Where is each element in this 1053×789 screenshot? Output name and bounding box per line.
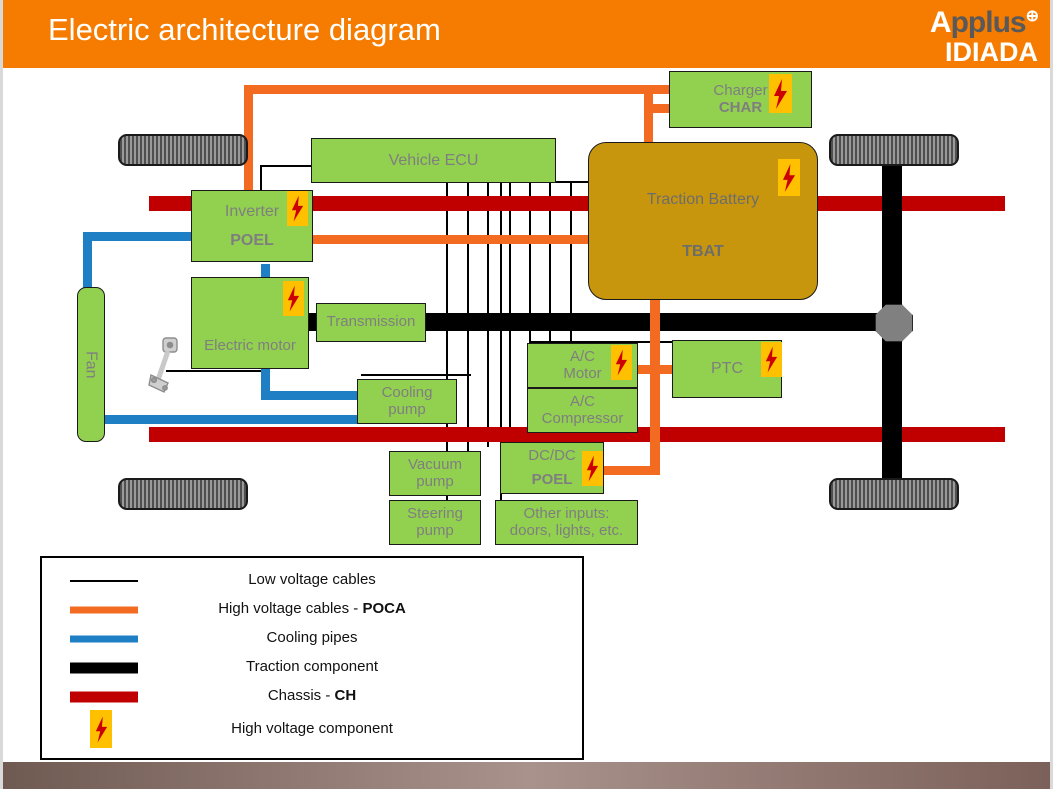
component-fan[interactable]: Fan <box>77 287 105 442</box>
charger-code: CHAR <box>719 100 762 116</box>
ac-motor-label-line2: Motor <box>563 366 601 382</box>
component-other-inputs[interactable]: Other inputs: doors, lights, etc. <box>495 500 638 545</box>
other-inputs-label-line2: doors, lights, etc. <box>510 523 623 539</box>
slide-footer-bar <box>3 762 1053 789</box>
transmission-label: Transmission <box>327 314 416 330</box>
other-inputs-label-line1: Other inputs: <box>524 506 610 522</box>
electric-motor-label: Electric motor <box>204 338 296 354</box>
ac-compressor-label-line1: A/C <box>570 394 595 410</box>
legend-label-cooling-pipes: Cooling pipes <box>42 629 582 646</box>
slide-canvas: Electric architecture diagram Applus⊕ ID… <box>0 0 1053 789</box>
wheel-rear-right <box>829 478 959 510</box>
high-voltage-badge-inverter <box>287 191 308 226</box>
high-voltage-badge-ac-motor <box>611 345 632 380</box>
vacuum-pump-label-line1: Vacuum <box>408 457 462 473</box>
cooling-pump-label-line2: pump <box>388 402 426 418</box>
legend-label-chassis: Chassis - CH <box>42 687 582 704</box>
applus-idiada-logo: Applus⊕ IDIADA <box>888 2 1038 66</box>
fan-label: Fan <box>82 351 99 379</box>
component-transmission[interactable]: Transmission <box>316 303 426 342</box>
wheel-front-right <box>829 134 959 166</box>
charger-label: Charger <box>713 83 767 99</box>
wheel-front-left <box>118 134 248 166</box>
plus-circle-icon: ⊕ <box>1026 8 1038 25</box>
legend-label-low-voltage-cables: Low voltage cables <box>42 571 582 588</box>
component-ac-compressor[interactable]: A/C Compressor <box>527 388 638 433</box>
cooling-pump-label-line1: Cooling <box>382 385 433 401</box>
logo-applus-wordmark: Applus⊕ <box>888 2 1038 38</box>
legend-code-ch: CH <box>335 687 357 704</box>
logo-text-pplus: pplus <box>951 6 1026 39</box>
logo-idiada-wordmark: IDIADA <box>888 38 1038 66</box>
high-voltage-badge-ptc <box>761 342 782 377</box>
steering-pump-label-line1: Steering <box>407 506 463 522</box>
legend-row-chassis: Chassis - CH <box>42 682 582 711</box>
legend-row-high-voltage-cables: High voltage cables - POCA <box>42 595 582 624</box>
high-voltage-badge-battery <box>778 159 800 196</box>
traction-battery-code: TBAT <box>589 243 817 261</box>
cooling-pipe-fan-top <box>83 232 201 241</box>
hv-cable-charger-drop <box>644 94 653 144</box>
dcdc-code: POEL <box>532 472 573 488</box>
logo-letter-a: A <box>930 6 951 39</box>
steering-pump-label-line2: pump <box>416 523 454 539</box>
high-voltage-badge-electric-motor <box>283 281 304 316</box>
component-steering-pump[interactable]: Steering pump <box>389 500 481 545</box>
lv-cable-inverter-to-ecu-run <box>260 165 315 167</box>
legend-code-poca: POCA <box>362 600 405 617</box>
cooling-pipe-pump-return <box>88 415 361 424</box>
legend-label-traction-component: Traction component <box>42 658 582 675</box>
legend-row-low-voltage-cables: Low voltage cables <box>42 566 582 595</box>
high-voltage-badge-dcdc <box>582 451 603 486</box>
slide-header: Electric architecture diagram Applus⊕ ID… <box>3 0 1053 68</box>
hv-cable-battery-down <box>650 300 660 475</box>
dcdc-label: DC/DC <box>528 448 576 464</box>
inverter-label: Inverter <box>225 203 279 220</box>
ac-motor-label-line1: A/C <box>570 349 595 365</box>
high-voltage-badge-charger <box>769 74 792 113</box>
wheel-rear-left <box>118 478 248 510</box>
hv-cable-top-horizontal <box>244 85 693 94</box>
component-vacuum-pump[interactable]: Vacuum pump <box>389 451 481 496</box>
legend-label-high-voltage-cables: High voltage cables - POCA <box>42 600 582 617</box>
legend-row-high-voltage-component: High voltage component <box>42 708 582 750</box>
cooling-pipe-motor-to-pump <box>261 391 361 400</box>
lv-cable-ecu-to-battery-run <box>556 181 591 183</box>
pedal-linkage-icon <box>146 335 194 397</box>
vehicle-ecu-label: Vehicle ECU <box>389 152 479 169</box>
inverter-code: POEL <box>230 232 274 249</box>
ptc-label: PTC <box>711 360 743 377</box>
legend-row-traction-component: Traction component <box>42 653 582 682</box>
legend-row-cooling-pipes: Cooling pipes <box>42 624 582 653</box>
legend-panel: Low voltage cables High voltage cables -… <box>40 556 584 760</box>
ac-compressor-label-line2: Compressor <box>542 411 624 427</box>
vacuum-pump-label-line2: pump <box>416 474 454 490</box>
lv-cable-coolingpump-feed <box>361 374 471 376</box>
component-cooling-pump[interactable]: Cooling pump <box>357 379 457 424</box>
page-title: Electric architecture diagram <box>48 12 441 48</box>
cooling-pipe-fan-riser <box>83 232 92 292</box>
legend-label-high-voltage-component: High voltage component <box>42 720 582 737</box>
component-vehicle-ecu[interactable]: Vehicle ECU <box>311 138 556 183</box>
differential-icon <box>875 304 913 342</box>
